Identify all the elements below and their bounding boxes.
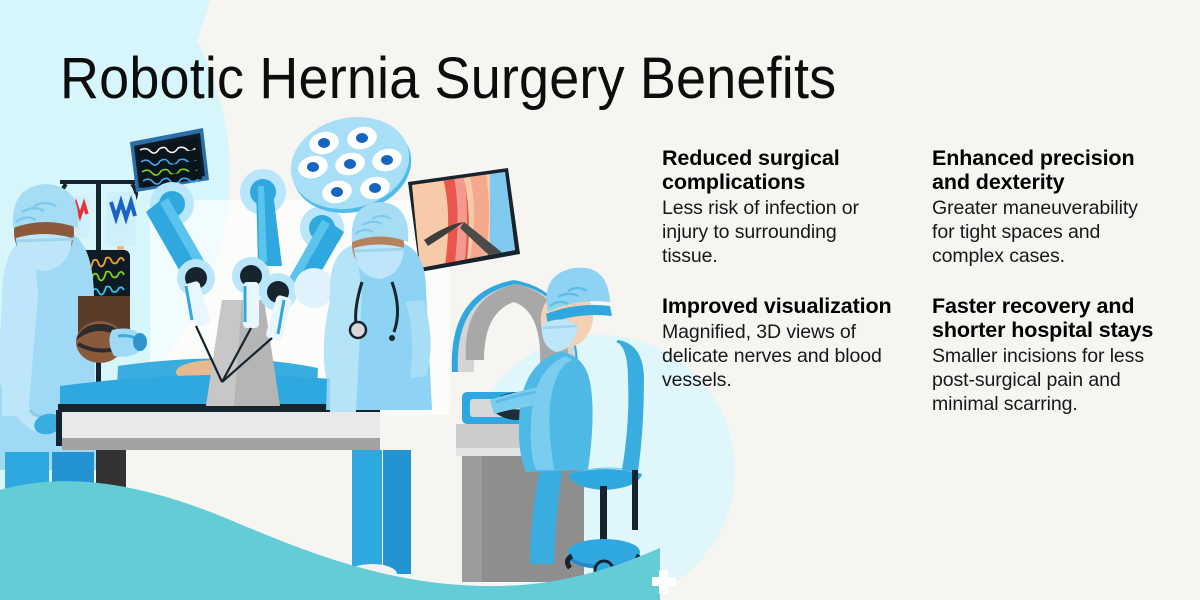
benefit-heading: Enhanced precision and dexterity [932,146,1162,194]
benefit-heading: Faster recovery and shorter hospital sta… [932,294,1162,342]
benefit-heading: Reduced surgical complications [662,146,892,194]
benefit-body: Magnified, 3D views of delicate nerves a… [662,320,892,392]
infographic-root: Robotic Hernia Surgery Benefits Reduced … [0,0,1200,600]
benefits-column-right: Enhanced precision and dexterity Greater… [932,146,1162,416]
benefits-column-left: Reduced surgical complications Less risk… [662,146,892,392]
page-title: Robotic Hernia Surgery Benefits [60,48,836,110]
benefit-body: Smaller incisions for less post-surgical… [932,344,1162,416]
benefit-body: Greater maneuverability for tight spaces… [932,196,1162,268]
benefit-item: Improved visualization Magnified, 3D vie… [662,294,892,392]
benefit-body: Less risk of infection or injury to surr… [662,196,892,268]
benefit-item: Enhanced precision and dexterity Greater… [932,146,1162,268]
benefit-item: Faster recovery and shorter hospital sta… [932,294,1162,416]
benefit-item: Reduced surgical complications Less risk… [662,146,892,268]
benefit-heading: Improved visualization [662,294,892,318]
